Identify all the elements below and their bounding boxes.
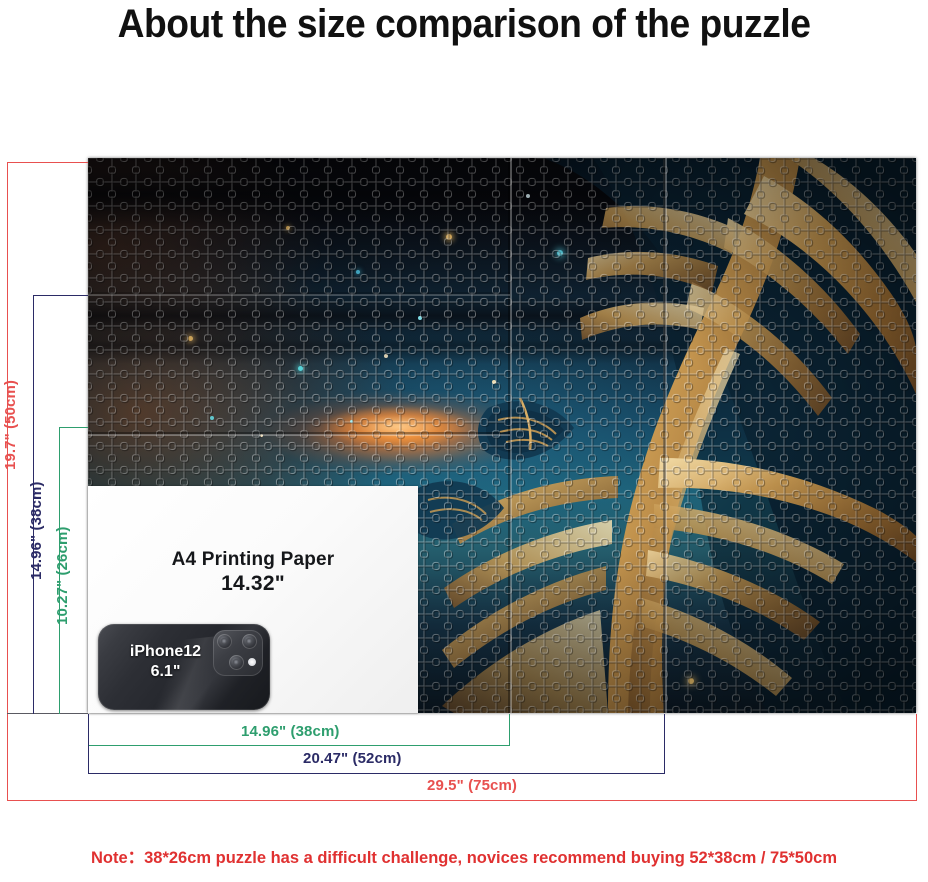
note-text: Note：38*26cm puzzle has a difficult chal… [14,846,914,870]
a4-paper-size: 14.32" [88,572,418,596]
height-52x38-label: 14.96" (38cm) [28,482,45,580]
panel-52x38-right-seam [665,158,667,713]
width-75x50-label: 29.5" (75cm) [427,777,517,794]
camera-flash-icon [248,658,256,666]
a4-paper-label: A4 Printing Paper 14.32" [88,548,418,596]
iphone-size: 6.1" [151,663,181,680]
iphone-label: iPhone12 6.1" [98,642,233,682]
panel-38x26-right-seam [510,158,512,713]
width-52x38-label: 20.47" (52cm) [303,750,401,767]
width-38x26-label: 14.96" (38cm) [241,723,339,740]
iphone-reference: iPhone12 6.1" [98,624,270,710]
camera-lens-icon [242,634,257,649]
iphone-name: iPhone12 [130,643,201,660]
height-38x26-label: 10.27" (26cm) [54,527,71,625]
height-75x50-label: 19.7" (50cm) [2,380,19,470]
size-comparison-diagram: A4 Printing Paper 14.32" iPhone12 6.1" 1… [0,0,928,882]
panel-38x26-bottom-seam [88,434,510,436]
a4-paper-name: A4 Printing Paper [172,549,335,570]
panel-52x38-bottom-seam [88,294,510,296]
